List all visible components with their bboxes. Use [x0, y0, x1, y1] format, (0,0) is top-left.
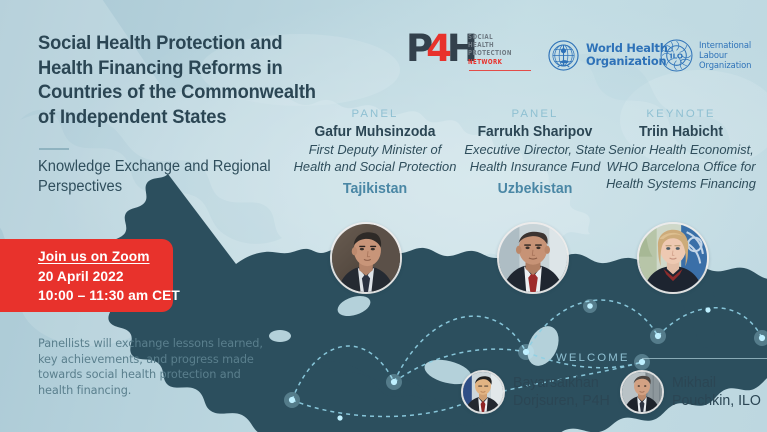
p4h-tagline-line4: NETWORK [468, 58, 512, 66]
ilo-logo: ILO International Labour Organization [660, 36, 751, 74]
speaker-1-role-line1: First Deputy Minister of [294, 142, 457, 158]
welcome-header: WELCOME [556, 352, 767, 364]
speaker-card-3: KEYNOTE Triin Habicht Senior Health Econ… [595, 108, 767, 193]
zoom-details-box: Join us on Zoom 20 April 2022 10:00 – 11… [0, 239, 173, 312]
who-logo-text: World Health Organization [586, 42, 668, 68]
who-text-line2: Organization [586, 55, 668, 68]
speaker-3-name: Triin Habicht [598, 124, 765, 141]
ilo-monogram: ILO [670, 51, 683, 60]
speaker-2-country: Uzbekistan [454, 180, 617, 198]
p4h-tagline-line1: SOCIAL [468, 33, 512, 41]
speaker-2-name: Farrukh Sharipov [454, 124, 617, 141]
p4h-logo: P4H SOCIAL HEALTH PROTECTION NETWORK [406, 30, 546, 74]
host-2-name-line2: Pouchkin, ILO [672, 393, 761, 411]
speaker-card-1: PANEL Gafur Muhsinzoda First Deputy Mini… [291, 108, 459, 198]
host-1-name-line2: Dorjsuren, P4H [513, 393, 610, 411]
ilo-text-line1: International [699, 40, 751, 50]
page-subtitle: Knowledge Exchange and Regional Perspect… [38, 157, 307, 196]
ilo-emblem-icon: ILO [660, 39, 693, 72]
host-1-avatar [461, 370, 505, 414]
welcome-label: WELCOME [556, 352, 630, 364]
host-2-avatar [620, 370, 664, 414]
event-date: 20 April 2022 [38, 268, 169, 288]
join-zoom-link[interactable]: Join us on Zoom [38, 248, 169, 268]
event-description: Panellists will exchange lessons learned… [38, 336, 266, 398]
p4h-tagline: SOCIAL HEALTH PROTECTION NETWORK [468, 33, 512, 66]
ilo-text-line3: Organization [699, 60, 751, 70]
speaker-1-name: Gafur Muhsinzoda [294, 124, 457, 141]
event-poster: Social Health Protection and Health Fina… [0, 0, 767, 432]
speaker-2-kicker: PANEL [451, 108, 619, 120]
logo-row: P4H SOCIAL HEALTH PROTECTION NETWORK [0, 0, 767, 95]
speaker-2-avatar [497, 222, 569, 294]
speaker-1-avatar [330, 222, 402, 294]
host-1-name-line1: Bayarsaikhan [513, 375, 610, 393]
host-2-name: Mikhail Pouchkin, ILO [672, 375, 764, 410]
ilo-logo-text: International Labour Organization [699, 40, 751, 71]
title-divider [39, 148, 69, 150]
speaker-1-country: Tajikistan [294, 180, 457, 198]
p4h-wordmark: P4H [406, 30, 476, 67]
who-logo: World Health Organization [548, 38, 668, 72]
welcome-divider [642, 358, 767, 359]
p4h-tagline-line2: HEALTH [468, 41, 512, 49]
speaker-1-kicker: PANEL [291, 108, 459, 120]
event-time: 10:00 – 11:30 am CET [38, 287, 169, 307]
who-emblem-icon [548, 40, 579, 71]
speaker-3-avatar [637, 222, 709, 294]
ilo-text-line2: Labour [699, 50, 751, 60]
host-2-name-line1: Mikhail [672, 375, 761, 393]
speaker-card-2: PANEL Farrukh Sharipov Executive Directo… [451, 108, 619, 198]
speaker-1-role-line2: Health and Social Protection [294, 159, 457, 175]
speaker-2-role-line2: Health Insurance Fund [454, 159, 617, 175]
speaker-3-kicker: KEYNOTE [595, 108, 767, 120]
speaker-3-role-line1: Senior Health Economist, [598, 142, 765, 158]
speaker-2-role-line1: Executive Director, State [454, 142, 617, 158]
p4h-logo-underline [469, 70, 531, 71]
host-1-name: Bayarsaikhan Dorjsuren, P4H [513, 375, 613, 410]
speaker-3-role-line3: Health Systems Financing [598, 176, 765, 192]
p4h-tagline-line3: PROTECTION [468, 49, 512, 57]
speaker-3-role-line2: WHO Barcelona Office for [598, 159, 765, 175]
